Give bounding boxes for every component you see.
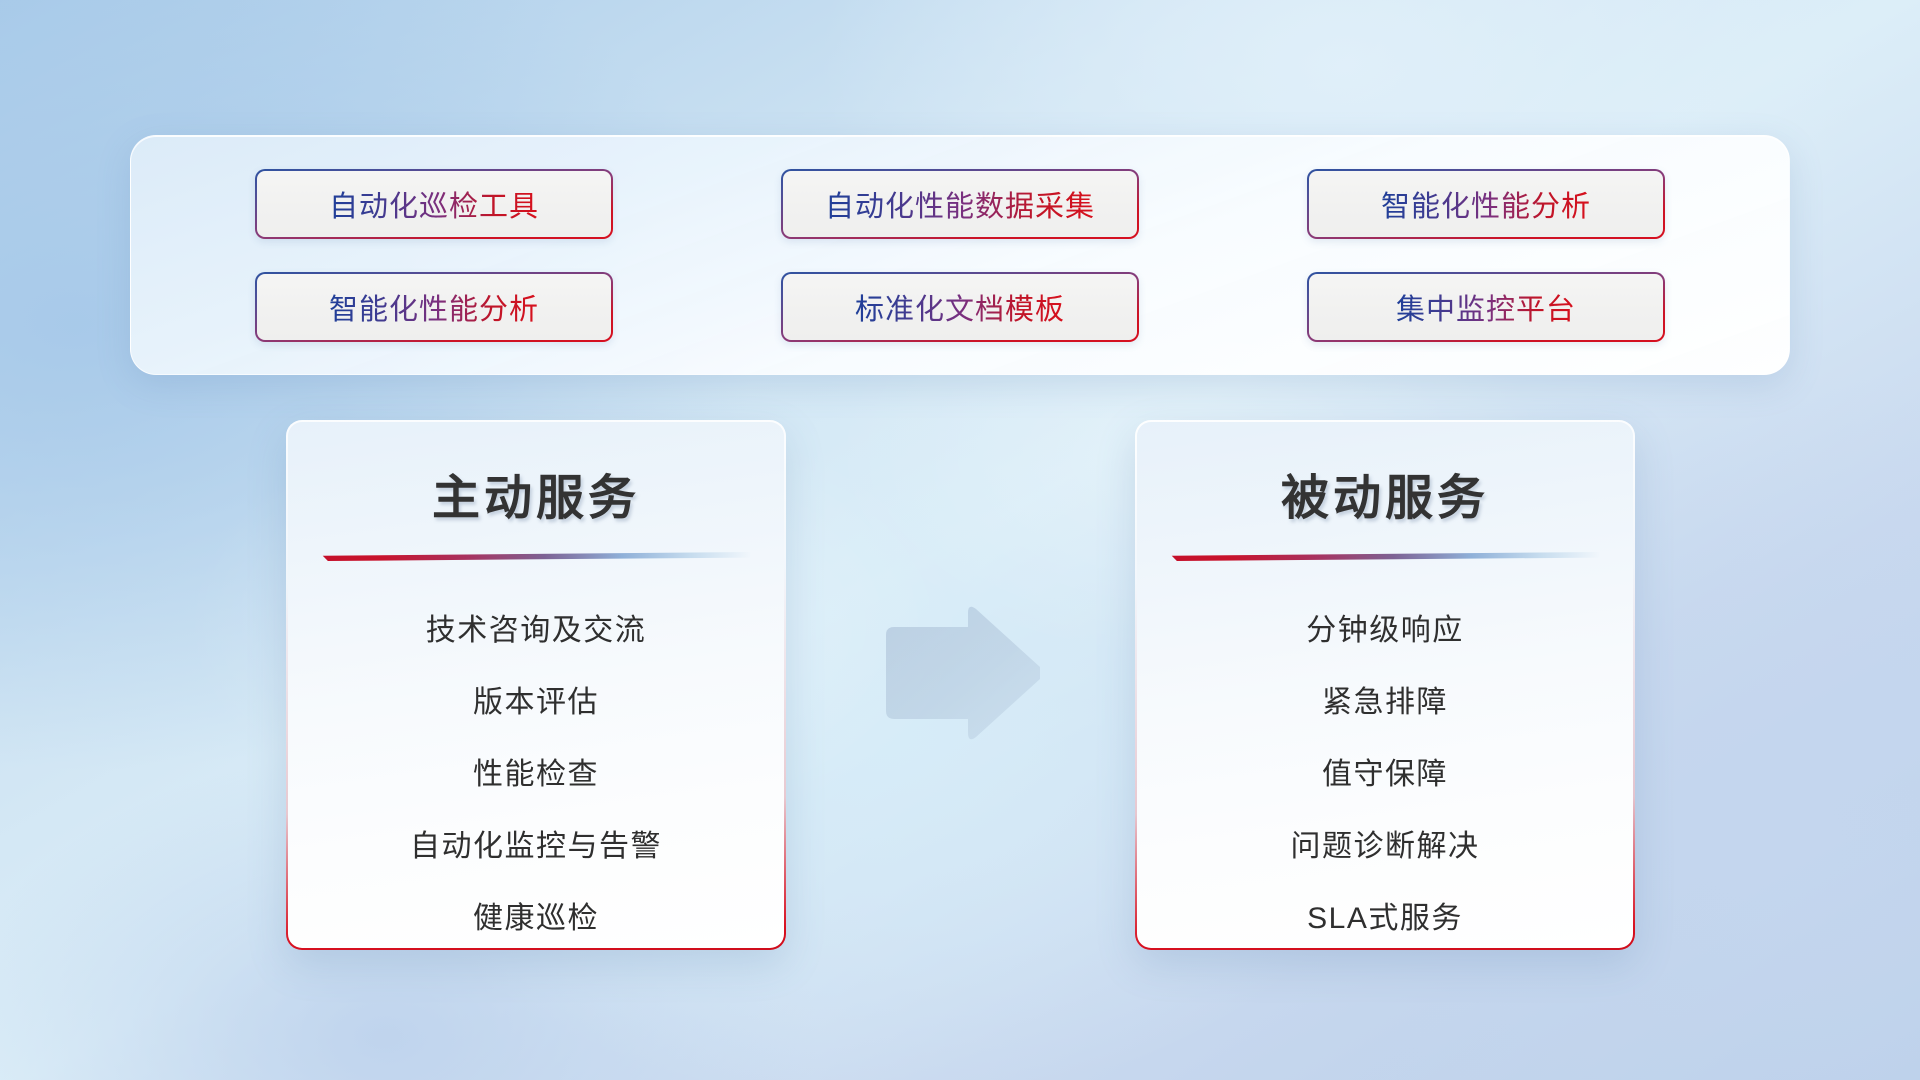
card-surface: 主动服务 技术咨询及交流 版本评估 性能检查 自动化监控与告警 健康巡检 [288, 422, 784, 948]
pill-label: 智能化性能分析 [1381, 183, 1591, 225]
pill-surface: 智能化性能分析 [257, 274, 611, 340]
card-proactive-service[interactable]: 主动服务 技术咨询及交流 版本评估 性能检查 自动化监控与告警 健康巡检 [286, 420, 786, 950]
pill-surface: 智能化性能分析 [1309, 171, 1663, 237]
pill-standard-doc-template[interactable]: 标准化文档模板 [781, 272, 1139, 342]
pill-central-monitor[interactable]: 集中监控平台 [1307, 272, 1665, 342]
pill-surface: 自动化巡检工具 [257, 171, 611, 237]
list-item: 健康巡检 [288, 883, 784, 948]
pill-label: 标准化文档模板 [855, 286, 1065, 328]
pill-smart-perf-analysis-2[interactable]: 智能化性能分析 [255, 272, 613, 342]
pill-label: 自动化巡检工具 [329, 183, 539, 225]
right-arrow-icon [878, 603, 1040, 745]
card-surface: 被动服务 分钟级响应 紧急排障 值守保障 问题诊断解决 SLA式服务 [1137, 422, 1633, 948]
list-item: 性能检查 [288, 739, 784, 811]
capability-panel: 自动化巡检工具 自动化性能数据采集 智能化性能分析 智能化性能分析 标准化文档模… [130, 135, 1790, 375]
pill-auto-perf-collection[interactable]: 自动化性能数据采集 [781, 169, 1139, 239]
list-item: 紧急排障 [1137, 667, 1633, 739]
list-item: 自动化监控与告警 [288, 811, 784, 883]
card-divider [1170, 552, 1600, 561]
card-title: 主动服务 [288, 458, 784, 528]
pill-smart-perf-analysis-1[interactable]: 智能化性能分析 [1307, 169, 1665, 239]
list-item: 问题诊断解决 [1137, 811, 1633, 883]
list-item: SLA式服务 [1137, 883, 1633, 948]
list-item: 分钟级响应 [1137, 595, 1633, 667]
pill-surface: 集中监控平台 [1309, 274, 1663, 340]
pill-label: 智能化性能分析 [329, 286, 539, 328]
list-item: 技术咨询及交流 [288, 595, 784, 667]
card-title: 被动服务 [1137, 458, 1633, 528]
pill-label: 自动化性能数据采集 [825, 183, 1095, 225]
card-service-list: 分钟级响应 紧急排障 值守保障 问题诊断解决 SLA式服务 [1137, 595, 1633, 948]
pill-label: 集中监控平台 [1396, 286, 1576, 328]
card-reactive-service[interactable]: 被动服务 分钟级响应 紧急排障 值守保障 问题诊断解决 SLA式服务 [1135, 420, 1635, 950]
card-service-list: 技术咨询及交流 版本评估 性能检查 自动化监控与告警 健康巡检 [288, 595, 784, 948]
list-item: 值守保障 [1137, 739, 1633, 811]
pill-surface: 标准化文档模板 [783, 274, 1137, 340]
capability-pill-grid: 自动化巡检工具 自动化性能数据采集 智能化性能分析 智能化性能分析 标准化文档模… [131, 136, 1789, 374]
pill-surface: 自动化性能数据采集 [783, 171, 1137, 237]
pill-auto-inspection-tool[interactable]: 自动化巡检工具 [255, 169, 613, 239]
card-divider [321, 552, 751, 561]
list-item: 版本评估 [288, 667, 784, 739]
